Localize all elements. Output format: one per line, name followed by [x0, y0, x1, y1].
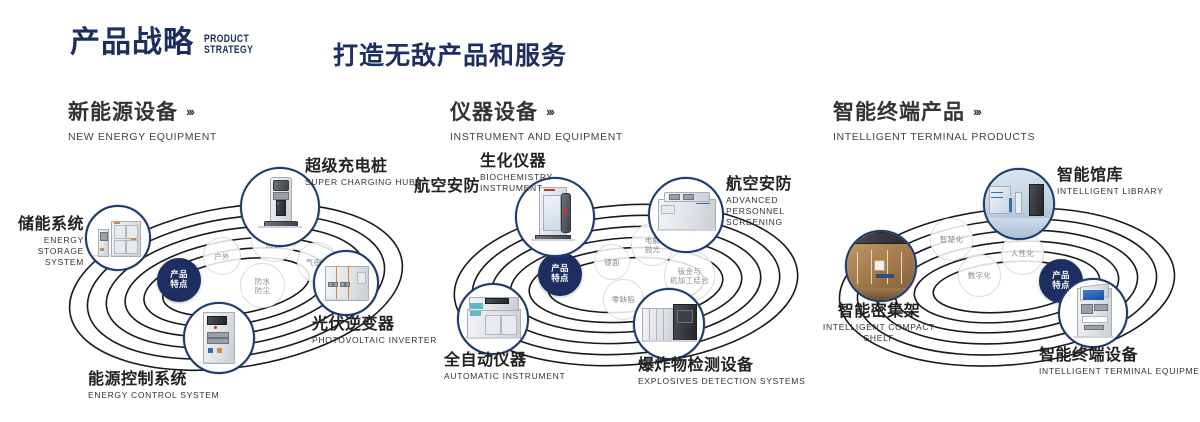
poster-canvas: 产品战略 PRODUCT STRATEGY 打造无敌产品和服务 新能源设备›››… [0, 0, 1200, 422]
node-label-en: ENERGY STORAGE SYSTEM [12, 235, 84, 268]
node-label-intelligent-compact-shelf: 智能密集架 INTELLIGENT COMPACT SHELF [817, 302, 941, 344]
node-label-cn: 储能系统 [12, 215, 84, 233]
feature-text: 数字化 [968, 271, 991, 280]
node-label-en: AUTOMATIC INSTRUMENT [444, 371, 565, 382]
feature-bubble-intelligent: 智慧化 [930, 218, 973, 261]
node-intelligent-library[interactable] [983, 168, 1055, 240]
library-room-icon [985, 170, 1053, 238]
page-title-en: PRODUCT STRATEGY [204, 34, 253, 56]
feature-text: 户外 [214, 252, 230, 261]
node-label-en: SUPER CHARGING HUB [305, 177, 415, 188]
node-label-intelligent-library: 智能馆库 INTELLIGENT LIBRARY [1057, 166, 1164, 197]
section-title-instrument: 仪器设备››› INSTRUMENT AND EQUIPMENT [450, 96, 623, 143]
screening-machine-icon [650, 179, 722, 251]
node-label-cn: 航空安防 [400, 177, 480, 195]
feature-text: 零缺陷 [612, 295, 635, 304]
node-label-en: ADVANCED PERSONNEL SCREENING [726, 195, 822, 228]
node-label-cn: 光伏逆变器 [312, 315, 437, 333]
node-label-intelligent-terminal-equipment: 智能终端设备 INTELLIGENT TERMINAL EQUIPMENT [1039, 346, 1200, 377]
node-label-super-charging-hub: 超级充电桩 SUPER CHARGING HUB [305, 157, 415, 188]
node-label-en: EXPLOSIVES DETECTION SYSTEMS [638, 376, 805, 387]
cluster-intelligent-terminal-products: 智慧化 数字化 人性化 产品 特点 智能馆库 INTELLIGENT LIBRA… [815, 160, 1200, 395]
page-title-cn: 产品战略 [70, 28, 194, 58]
node-label-aviation-security-left: 航空安防 [400, 177, 480, 195]
page-title-en-line2: STRATEGY [204, 45, 253, 56]
node-label-en: INTELLIGENT COMPACT SHELF [817, 322, 941, 344]
section-title-terminal: 智能终端产品››› INTELLIGENT TERMINAL PRODUCTS [833, 96, 1035, 143]
core-badge-product-features: 产品 特点 [157, 258, 201, 302]
node-label-advanced-personnel-screening: 航空安防 ADVANCED PERSONNEL SCREENING [726, 175, 822, 228]
feature-text: 智慧化 [940, 235, 963, 244]
node-label-cn: 能源控制系统 [88, 370, 219, 388]
node-label-cn: 爆炸物检测设备 [638, 356, 805, 374]
node-label-cn: 智能密集架 [817, 302, 941, 320]
feature-text: 人性化 [1011, 249, 1034, 258]
node-explosives-detection-systems[interactable] [633, 288, 705, 360]
feature-text: 镜面 [604, 258, 620, 267]
feature-text: 防水防尘 [255, 277, 271, 295]
feature-bubble-mirror-finish: 镜面 [594, 244, 630, 280]
node-label-biochemistry-instrument: 生化仪器 BIOCHEMISTRY INSTRUMENT [480, 152, 564, 194]
page-title: 产品战略 PRODUCT STRATEGY [70, 28, 267, 58]
chevron-right-icon: ››› [973, 104, 980, 119]
node-label-explosives-detection-systems: 爆炸物检测设备 EXPLOSIVES DETECTION SYSTEMS [638, 356, 805, 387]
section-title-en: INSTRUMENT AND EQUIPMENT [450, 131, 623, 143]
section-title-cn: 仪器设备 [450, 96, 538, 126]
node-label-energy-control-system: 能源控制系统 ENERGY CONTROL SYSTEM [88, 370, 219, 401]
node-photovoltaic-inverter[interactable] [313, 250, 379, 316]
feature-bubble-digital: 数字化 [958, 254, 1001, 297]
node-automatic-instrument[interactable] [457, 283, 529, 355]
core-badge-line2: 特点 [551, 274, 569, 284]
self-service-kiosk-icon [1060, 280, 1126, 346]
node-label-en: BIOCHEMISTRY INSTRUMENT [480, 172, 564, 194]
section-title-cn: 新能源设备 [68, 96, 178, 126]
control-cabinet-icon [185, 304, 253, 372]
core-badge-product-features: 产品 特点 [538, 252, 582, 296]
node-label-automatic-instrument: 全自动仪器 AUTOMATIC INSTRUMENT [444, 351, 565, 382]
core-badge-line2: 特点 [170, 280, 188, 290]
node-energy-control-system[interactable] [183, 302, 255, 374]
feature-bubble-outdoor: 户外 [203, 237, 241, 275]
node-label-cn: 智能终端设备 [1039, 346, 1200, 364]
feature-text: 钣金与机加工结合 [670, 267, 709, 285]
node-intelligent-compact-shelf[interactable] [845, 230, 917, 302]
section-title-new-energy: 新能源设备››› NEW ENERGY EQUIPMENT [68, 96, 217, 143]
core-badge-line1: 产品 [170, 270, 188, 280]
node-intelligent-terminal-equipment[interactable] [1058, 278, 1128, 348]
node-energy-storage-system[interactable] [85, 205, 151, 271]
section-title-en: NEW ENERGY EQUIPMENT [68, 131, 217, 143]
node-label-cn: 智能馆库 [1057, 166, 1164, 184]
cluster-instrument-and-equipment: 产品 特点 镜面 电解抛光 零缺陷 钣金与机加工结合 航空安防 生化仪器 BIO… [430, 155, 830, 395]
node-label-cn: 生化仪器 [480, 152, 564, 170]
node-label-en: ENERGY CONTROL SYSTEM [88, 390, 219, 401]
compact-shelf-icon [847, 232, 915, 300]
node-label-en: PHOTOVOLTAIC INVERTER [312, 335, 437, 346]
chevron-right-icon: ››› [546, 104, 553, 119]
node-label-cn: 全自动仪器 [444, 351, 565, 369]
page-subtitle: 打造无敌产品和服务 [333, 36, 567, 72]
node-label-photovoltaic-inverter: 光伏逆变器 PHOTOVOLTAIC INVERTER [312, 315, 437, 346]
chevron-right-icon: ››› [186, 104, 193, 119]
node-label-energy-storage-system: 储能系统 ENERGY STORAGE SYSTEM [12, 215, 84, 268]
cluster-new-energy-equipment: 产品 特点 户外 防腐防锈 防水防尘 气密性 储能系统 [40, 155, 440, 395]
inverter-cabinet-icon [315, 252, 377, 314]
node-label-en: INTELLIGENT TERMINAL EQUIPMENT [1039, 366, 1200, 377]
feature-bubble-waterproof: 防水防尘 [240, 263, 285, 308]
node-label-cn: 航空安防 [726, 175, 822, 193]
section-title-cn: 智能终端产品 [833, 96, 965, 126]
energy-storage-cabinet-icon [87, 207, 149, 269]
node-label-cn: 超级充电桩 [305, 157, 415, 175]
node-label-en: INTELLIGENT LIBRARY [1057, 186, 1164, 197]
node-advanced-personnel-screening[interactable] [648, 177, 724, 253]
section-title-en: INTELLIGENT TERMINAL PRODUCTS [833, 131, 1035, 143]
automatic-analyzer-icon [459, 285, 527, 353]
explosive-detector-icon [635, 290, 703, 358]
core-badge-line1: 产品 [551, 264, 569, 274]
